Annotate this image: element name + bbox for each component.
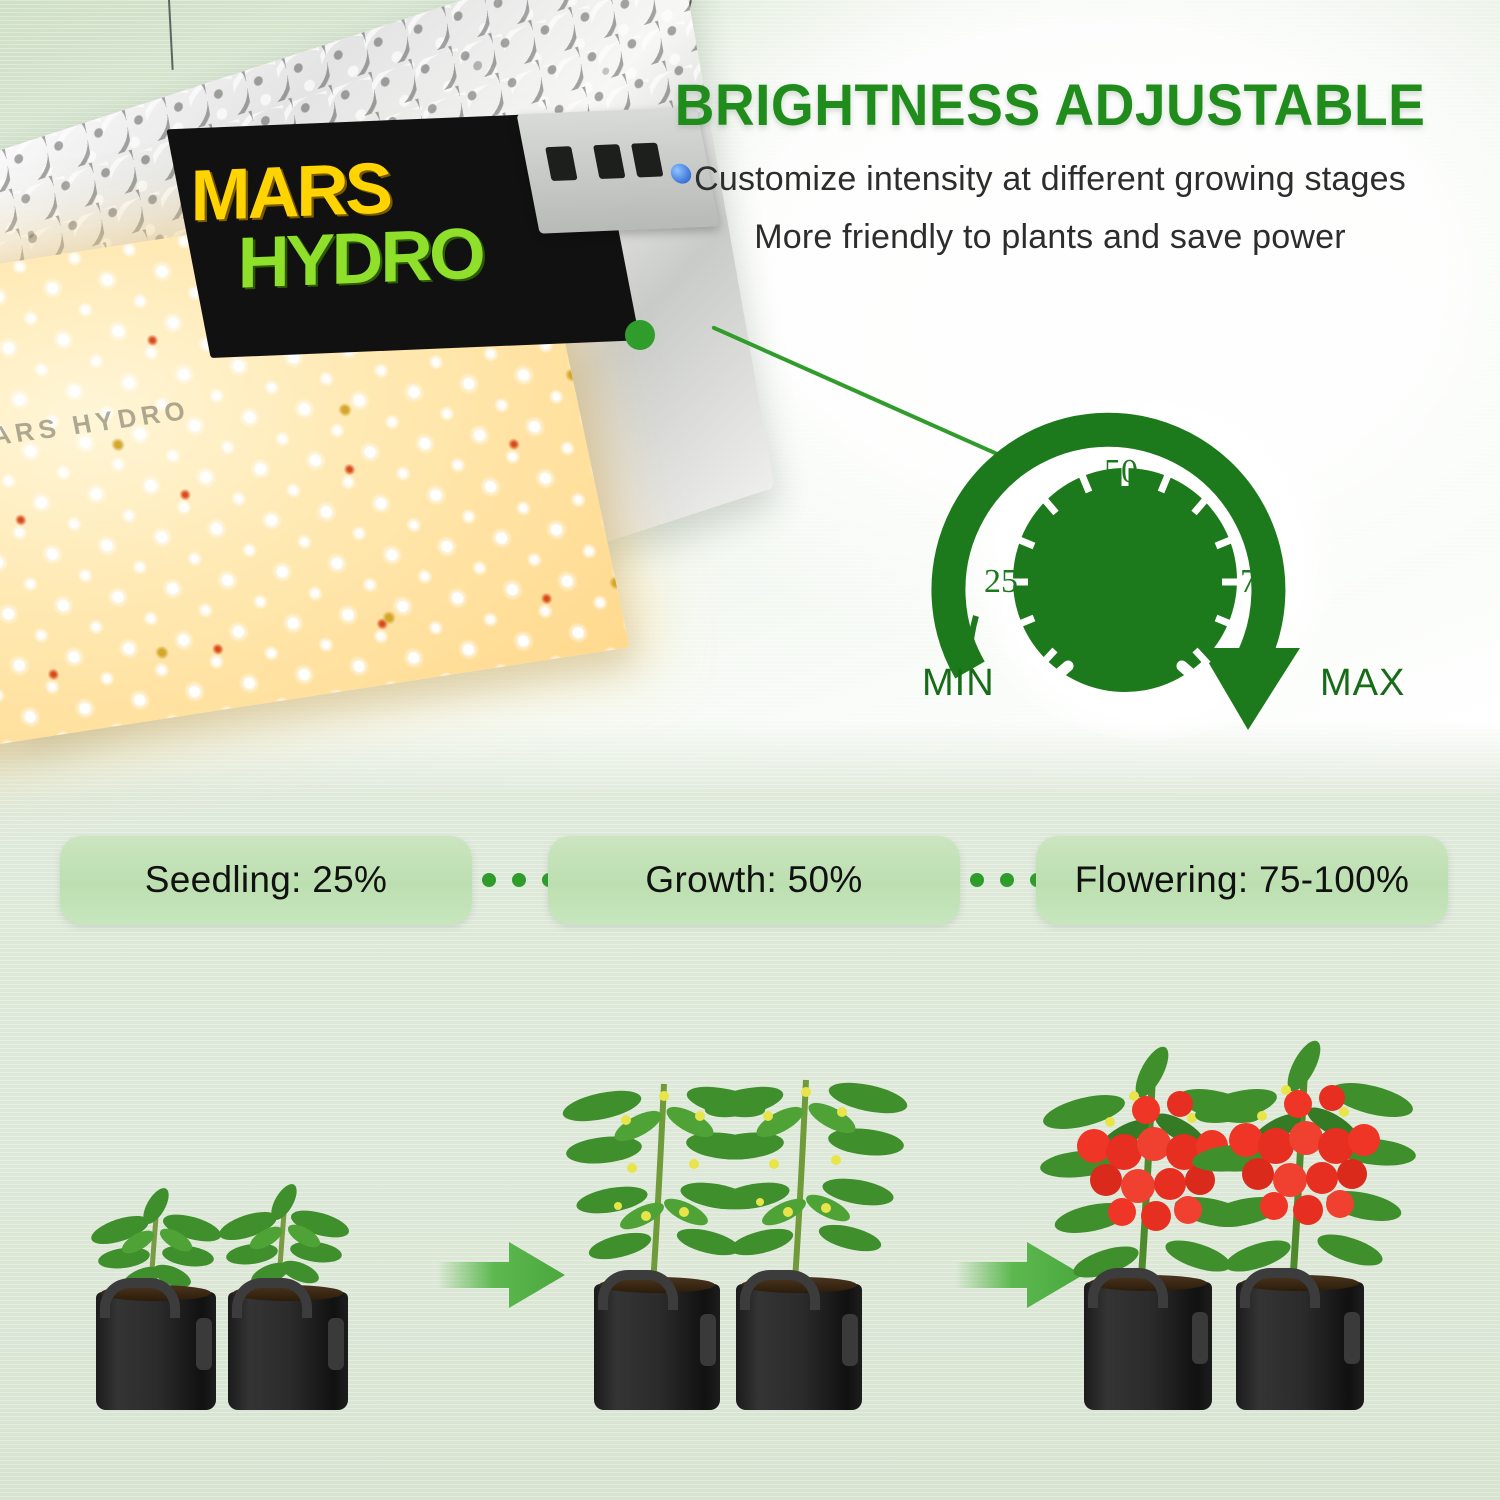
stage-pill-label: Seedling: 25% — [145, 859, 388, 901]
grow-bag-handle — [598, 1270, 678, 1310]
stage-pill-flowering[interactable]: Flowering: 75-100% — [1036, 836, 1448, 924]
power-switch-icon — [545, 146, 578, 181]
page-title: BRIGHTNESS ADJUSTABLE — [632, 72, 1468, 139]
grow-bag-handle — [232, 1278, 312, 1318]
grow-bag-handle — [1240, 1268, 1320, 1308]
grow-bag-handle — [740, 1270, 820, 1310]
stage-pill-label: Growth: 50% — [645, 859, 862, 901]
dial-tick-label-50: 50 — [1104, 453, 1138, 491]
callout-anchor-dot — [625, 320, 655, 350]
grow-bag-handle — [1088, 1268, 1168, 1308]
subtitle-line-2: More friendly to plants and save power — [610, 218, 1490, 257]
separator-dots-2 — [970, 873, 1044, 887]
grow-bag-tab — [1192, 1312, 1208, 1364]
dial-tick-label-25: 25 — [984, 563, 1018, 601]
plant-group-growth — [560, 1010, 920, 1410]
dial-tick-label-75: 75 — [1240, 563, 1274, 601]
flowering-plant-2 — [1191, 1036, 1417, 1294]
brightness-dial-illustration[interactable]: 50 25 75 MIN MAX — [900, 380, 1460, 740]
separator-dots-1 — [482, 873, 556, 887]
stage-pill-growth[interactable]: Growth: 50% — [548, 836, 960, 924]
stage-pill-seedling[interactable]: Seedling: 25% — [60, 836, 472, 924]
plant-group-flowering — [1040, 1000, 1440, 1410]
stage-pill-label: Flowering: 75-100% — [1075, 859, 1409, 901]
growth-plant-2 — [702, 1077, 910, 1296]
grow-bag-tab — [196, 1318, 212, 1370]
dial-max-label: MAX — [1320, 662, 1405, 705]
grow-bag-tab — [700, 1314, 716, 1366]
stage-arrow-1 — [437, 1238, 567, 1312]
grow-bag-tab — [328, 1318, 344, 1370]
promo-graphic: MARS HYDRO MARS HYDRO BRIGHTNESS ADJUSTA… — [0, 0, 1500, 1500]
subtitle-line-1: Customize intensity at different growing… — [610, 160, 1490, 199]
clockwise-arrow-head — [1200, 648, 1300, 730]
dial-min-label: MIN — [922, 662, 995, 705]
plant-group-seedling — [80, 1110, 420, 1410]
grow-bag-tab — [842, 1314, 858, 1366]
grow-bag-handle — [100, 1278, 180, 1318]
knob-face — [1043, 502, 1207, 666]
grow-bag-tab — [1344, 1312, 1360, 1364]
